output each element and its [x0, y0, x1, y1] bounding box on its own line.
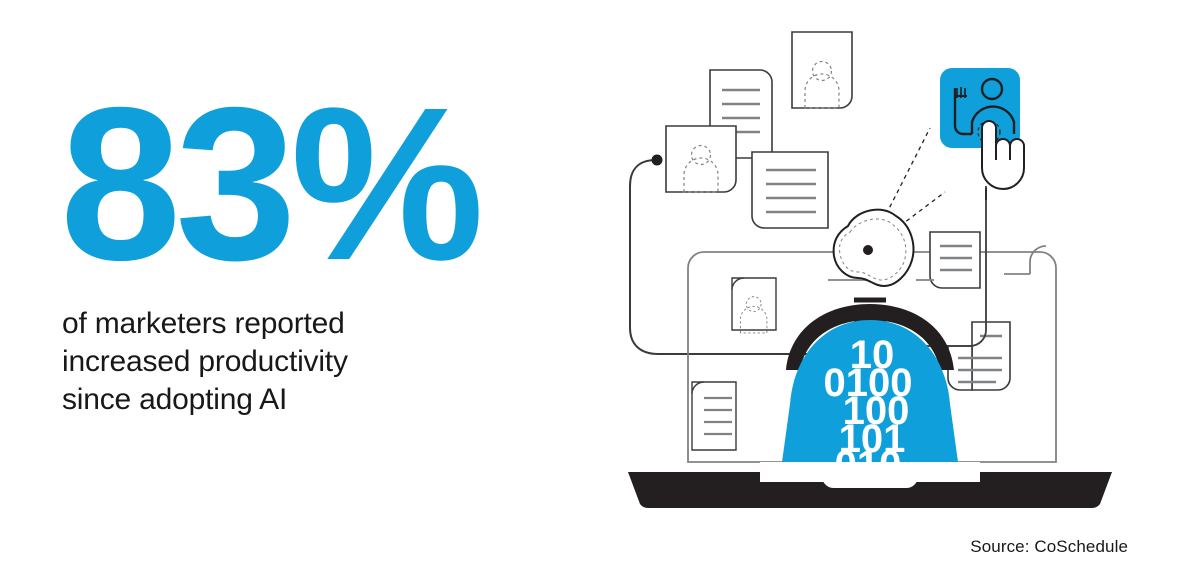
brain-shape	[834, 210, 914, 286]
stat-description: of marketers reported increased producti…	[62, 305, 492, 419]
stat-description-line-3: since adopting AI	[62, 381, 492, 419]
stat-description-line-2: increased productivity	[62, 343, 492, 381]
stat-panel: 83% of marketers reported increased prod…	[0, 0, 560, 579]
avatar-card-screen-left	[732, 278, 776, 333]
bulb-neck	[836, 462, 904, 472]
source-label: Source: CoSchedule	[970, 537, 1128, 557]
ai-lightbulb-laptop-illustration: 10 0100 100 101 010	[600, 10, 1160, 530]
avatar-card-top	[792, 32, 852, 108]
infographic-canvas: 83% of marketers reported increased prod…	[0, 0, 1200, 579]
document-card-right-upper	[930, 232, 980, 288]
cable-endpoint-dot	[652, 155, 663, 166]
person-raising-hand-tile	[940, 68, 1020, 148]
document-card-right-lower	[948, 322, 1010, 390]
stat-value: 83%	[60, 76, 478, 294]
stat-description-line-1: of marketers reported	[62, 305, 492, 343]
avatar-card-left	[666, 126, 736, 192]
document-card-screen-left	[692, 382, 736, 450]
document-card-middle	[752, 152, 828, 228]
